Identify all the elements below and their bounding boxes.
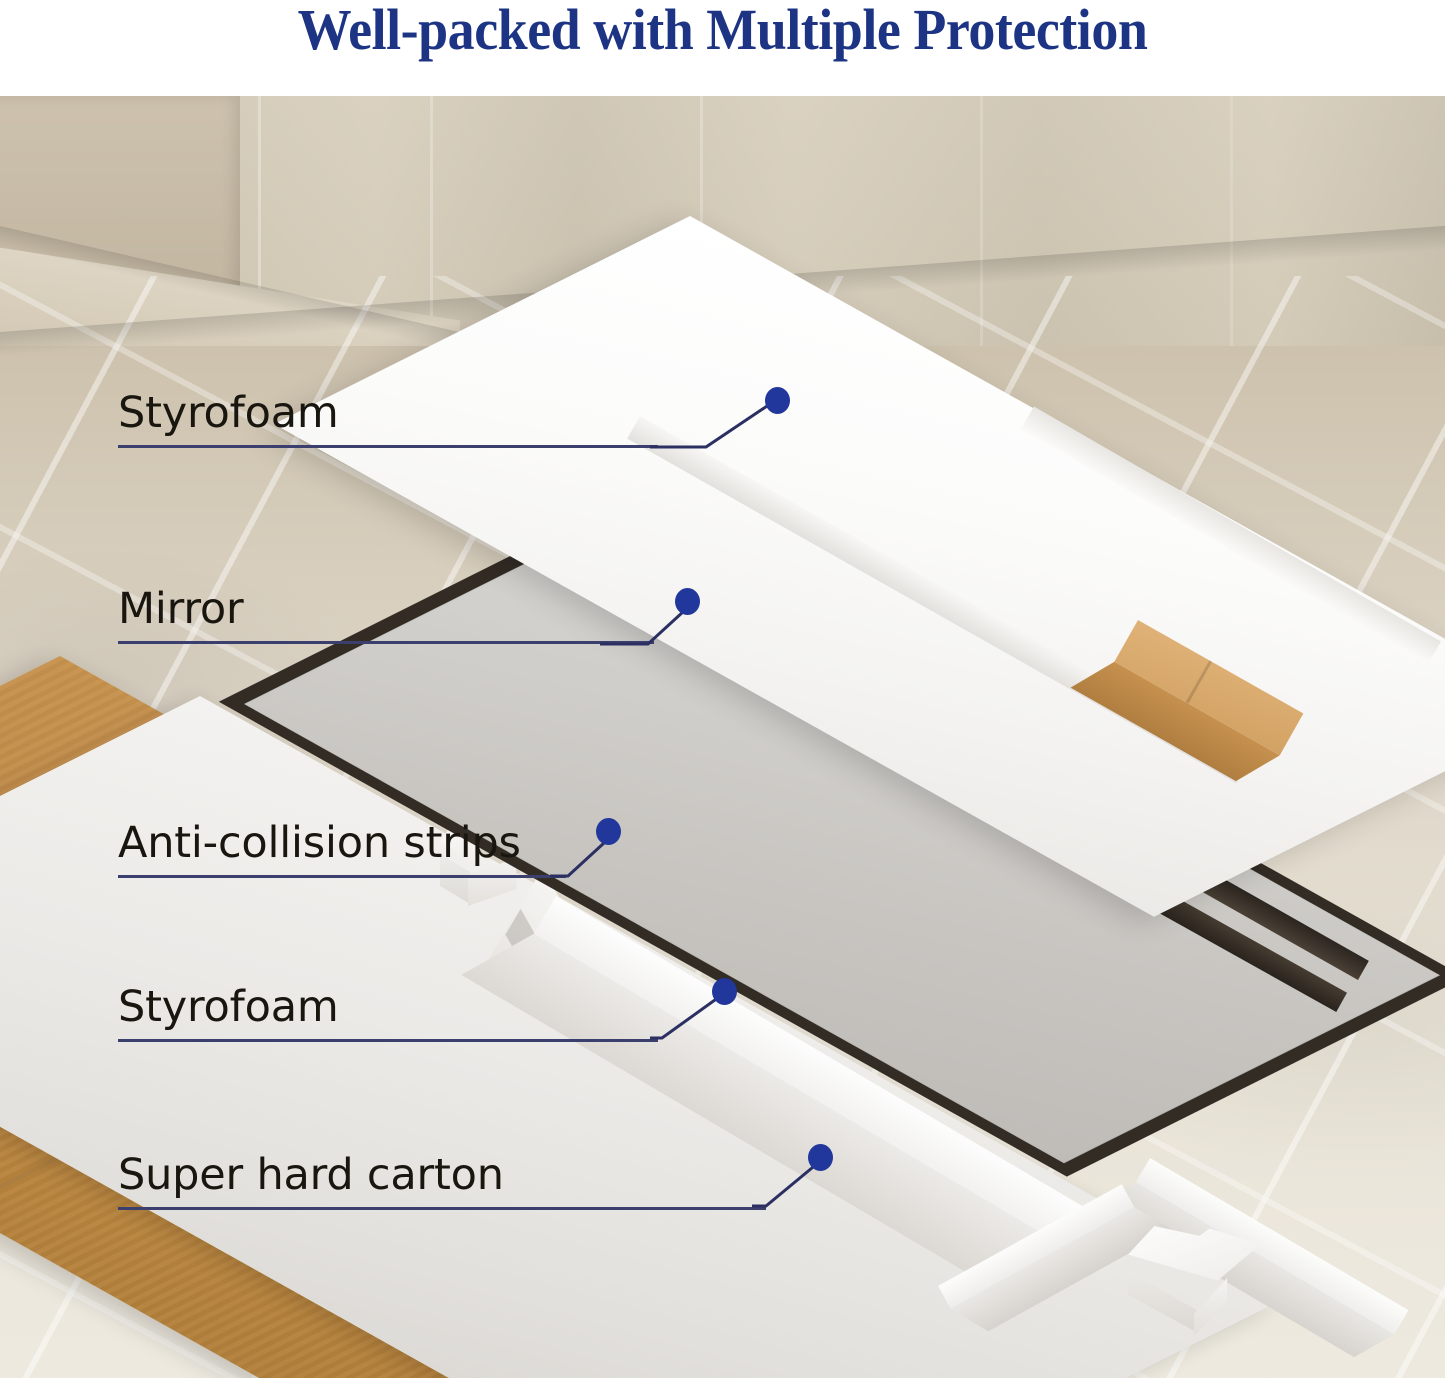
callout-styrofoam-top: Styrofoam (118, 368, 678, 448)
callout-underline (118, 445, 658, 448)
callout-underline (118, 641, 654, 644)
corner-block-right-face (1194, 1278, 1266, 1336)
callout-underline (118, 1039, 658, 1042)
callout-marker-dot (765, 387, 790, 414)
callout-underline (118, 1207, 766, 1210)
callout-marker-dot (675, 588, 700, 615)
packaging-scene-photo: Styrofoam Mirror Anti-collision strips S… (0, 96, 1445, 1378)
callout-underline (118, 875, 566, 878)
callout-mirror: Mirror (118, 564, 598, 644)
callout-leader-line-strips (550, 820, 640, 882)
foam-corner-block-right (1128, 1226, 1260, 1336)
product-packaging-infographic: Well-packed with Multiple Protection (0, 0, 1445, 1378)
callout-label: Styrofoam (118, 388, 339, 438)
corner-block-top-face (1128, 1226, 1260, 1288)
callout-marker-dot (712, 978, 737, 1005)
callout-styrofoam-bottom: Styrofoam (118, 962, 678, 1042)
callout-leader-line-mirror (600, 590, 720, 652)
callout-label: Mirror (118, 584, 244, 634)
callout-marker-dot (596, 818, 621, 845)
callout-label: Super hard carton (118, 1150, 504, 1200)
callout-leader-line-styrofoam-bottom (650, 980, 760, 1046)
callout-leader-line-carton (752, 1146, 852, 1212)
callout-label: Styrofoam (118, 982, 339, 1032)
callout-super-hard-carton: Super hard carton (118, 1130, 758, 1210)
page-title: Well-packed with Multiple Protection (51, 0, 1395, 62)
callout-label: Anti-collision strips (118, 818, 521, 868)
callout-marker-dot (808, 1144, 833, 1171)
